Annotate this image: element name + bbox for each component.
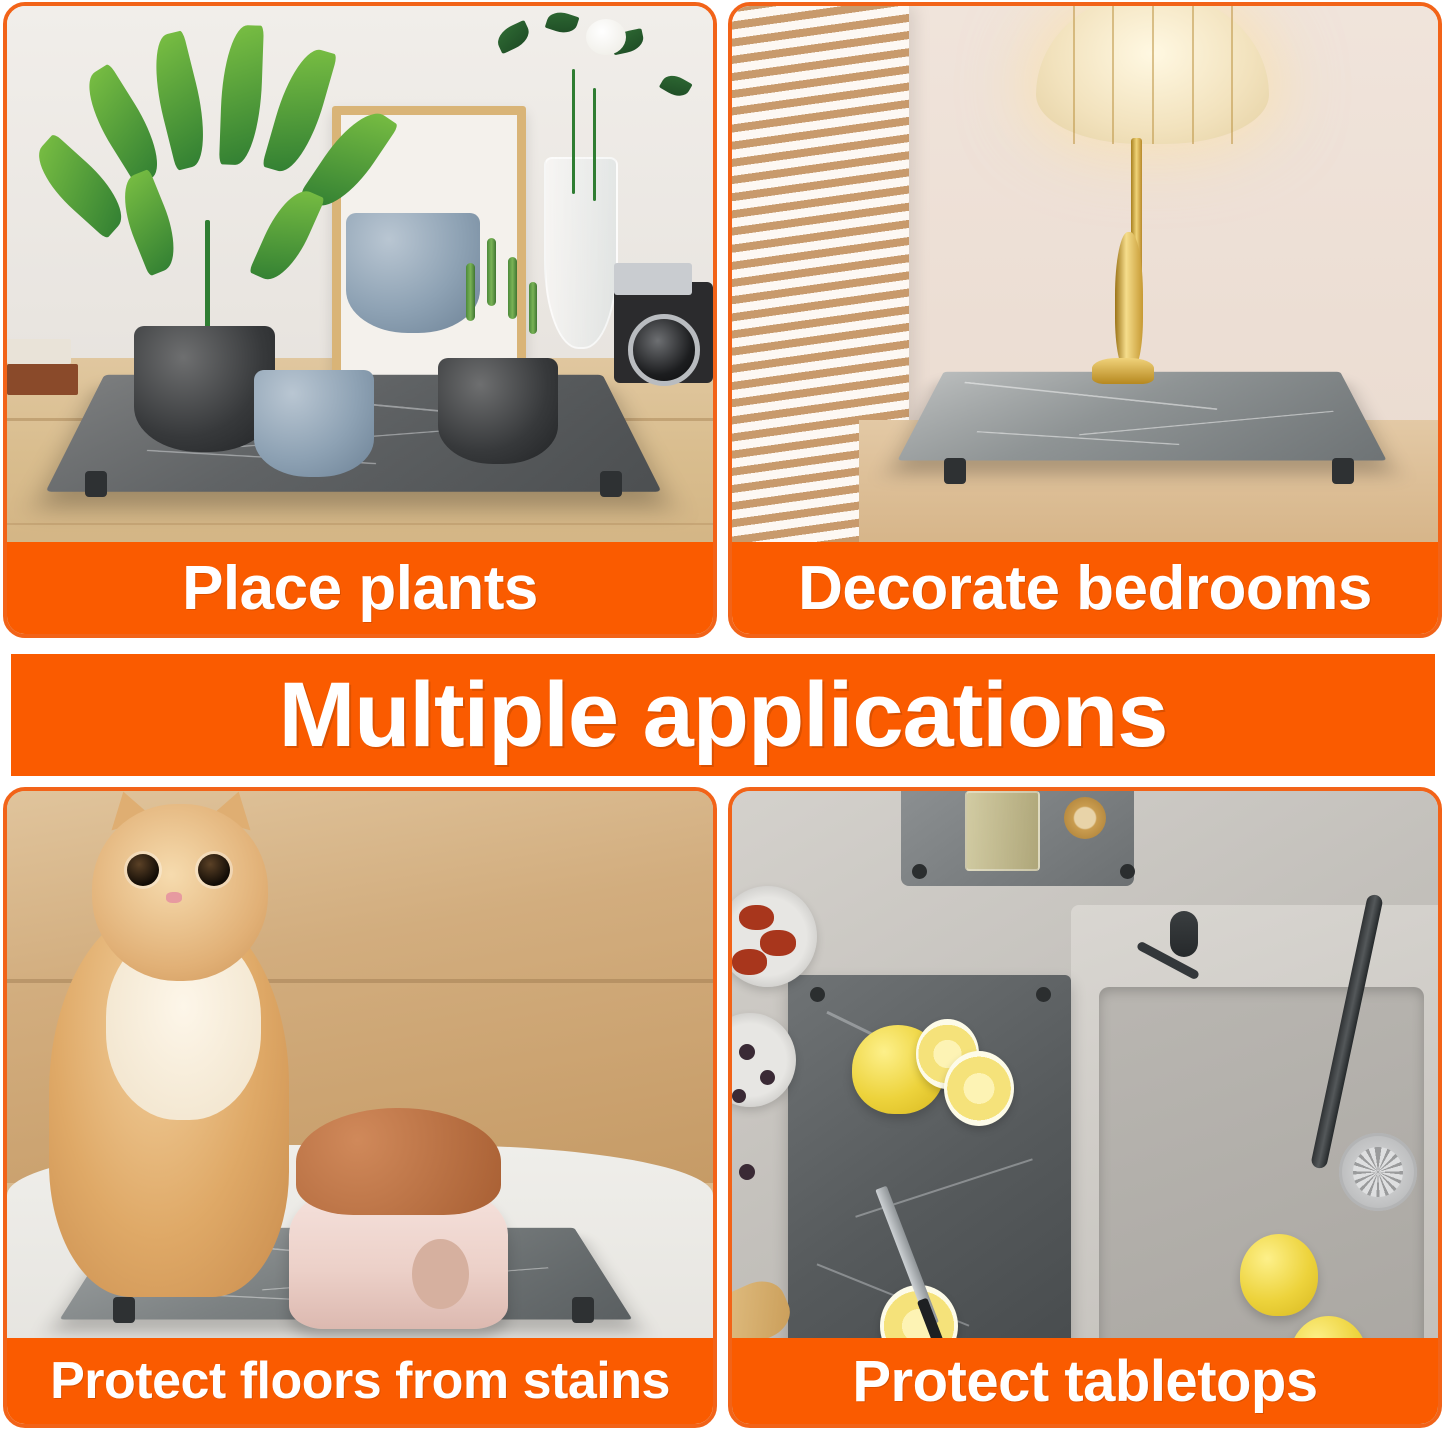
banner-text: Multiple applications xyxy=(279,663,1168,768)
photo-lamp xyxy=(732,6,1438,634)
lamp-body xyxy=(1115,232,1143,370)
panel-protect-floors: Protect floors from stains xyxy=(3,787,717,1428)
caption-protect-floors: Protect floors from stains xyxy=(7,1338,713,1424)
caption-text: Decorate bedrooms xyxy=(798,553,1372,624)
caption-decorate-bedrooms: Decorate bedrooms xyxy=(732,542,1438,634)
caption-text: Place plants xyxy=(182,553,538,624)
plant-pot xyxy=(254,370,374,477)
photo-plants xyxy=(7,6,713,634)
caption-text: Protect floors from stains xyxy=(50,1351,670,1411)
lamp-shade xyxy=(1036,6,1269,144)
glass-vase xyxy=(544,157,619,349)
caption-protect-tabletops: Protect tabletops xyxy=(732,1338,1438,1424)
plant-pot xyxy=(346,213,480,332)
photo-cat xyxy=(7,791,713,1424)
pet-food xyxy=(296,1108,501,1216)
panel-decorate-bedrooms: Decorate bedrooms xyxy=(728,2,1442,638)
caption-place-plants: Place plants xyxy=(7,542,713,634)
caption-text: Protect tabletops xyxy=(852,1348,1317,1415)
lemon xyxy=(1240,1234,1318,1316)
sink-drain xyxy=(1339,1133,1417,1211)
photo-kitchen xyxy=(732,791,1438,1424)
banner-multiple-applications: Multiple applications xyxy=(11,654,1435,776)
oil-bottle xyxy=(965,791,1040,871)
marble-mat xyxy=(897,371,1386,460)
dish-brush xyxy=(1064,797,1106,839)
panel-place-plants: Place plants xyxy=(3,2,717,638)
panel-protect-tabletops: Protect tabletops xyxy=(728,787,1442,1428)
sink-mixer-tap xyxy=(1170,911,1198,957)
product-feature-collage: Place plants xyxy=(0,0,1445,1432)
lamp-base xyxy=(1092,358,1154,384)
plant-pot xyxy=(438,358,558,465)
